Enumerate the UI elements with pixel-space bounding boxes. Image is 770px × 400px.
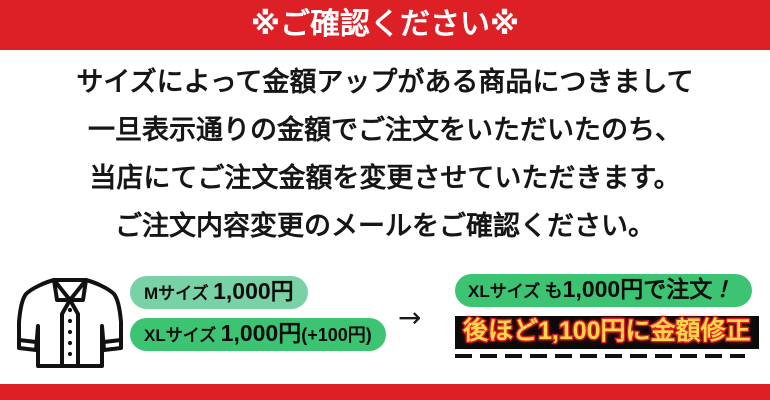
notice-line-3: 当店にてご注文金額を変更させていただきます。 xyxy=(0,154,770,202)
notice-line-1: サイズによって金額アップがある商品につきまして xyxy=(0,58,770,106)
price-surcharge-xl: (+100円) xyxy=(301,325,372,345)
notice-line-2: 一旦表示通りの金額でご注文をいただいたのち、 xyxy=(0,106,770,154)
header-title: ※ご確認ください※ xyxy=(251,10,519,40)
price-pill-xl: XLサイズ 1,000円(+100円) xyxy=(130,318,386,351)
dashed-underline xyxy=(455,354,745,358)
price-comparison: Mサイズ 1,000円 XLサイズ 1,000円(+100円) → XLサイズ … xyxy=(0,262,770,384)
order-suffix: で注文 xyxy=(643,276,712,302)
shirt-icon xyxy=(16,270,124,374)
price-correction-highlight: 後ほど1,100円に金額修正 xyxy=(455,316,759,350)
size-label-m: Mサイズ xyxy=(144,284,209,303)
price-pill-m: Mサイズ 1,000円 xyxy=(130,276,308,309)
price-value-xl: 1,000円 xyxy=(221,320,302,346)
order-price-value: 1,000円 xyxy=(563,276,644,302)
after-prices: XLサイズ も1,000円で注文 ！ 後ほど1,100円に金額修正 xyxy=(455,274,755,358)
order-particle: も xyxy=(545,281,563,301)
notice-line-4: ご注文内容変更のメールをご確認ください。 xyxy=(0,202,770,250)
notice-banner: ※ご確認ください※ サイズによって金額アップがある商品につきまして 一旦表示通り… xyxy=(0,0,770,400)
order-pill-xl: XLサイズ も1,000円で注文 ！ xyxy=(455,274,752,307)
footer-bar xyxy=(0,384,770,400)
order-size-label: XLサイズ xyxy=(468,282,540,301)
order-exclamation: ！ xyxy=(717,277,739,302)
arrow-right-icon: → xyxy=(398,304,421,332)
notice-body: サイズによって金額アップがある商品につきまして 一旦表示通りの金額でご注文をいた… xyxy=(0,58,770,250)
before-prices: Mサイズ 1,000円 XLサイズ 1,000円(+100円) xyxy=(130,276,388,351)
price-correction-text: 後ほど1,100円に金額修正 xyxy=(463,317,751,345)
size-label-xl: XLサイズ xyxy=(144,326,216,345)
header-bar: ※ご確認ください※ xyxy=(0,0,770,50)
price-value-m: 1,000円 xyxy=(213,278,294,304)
